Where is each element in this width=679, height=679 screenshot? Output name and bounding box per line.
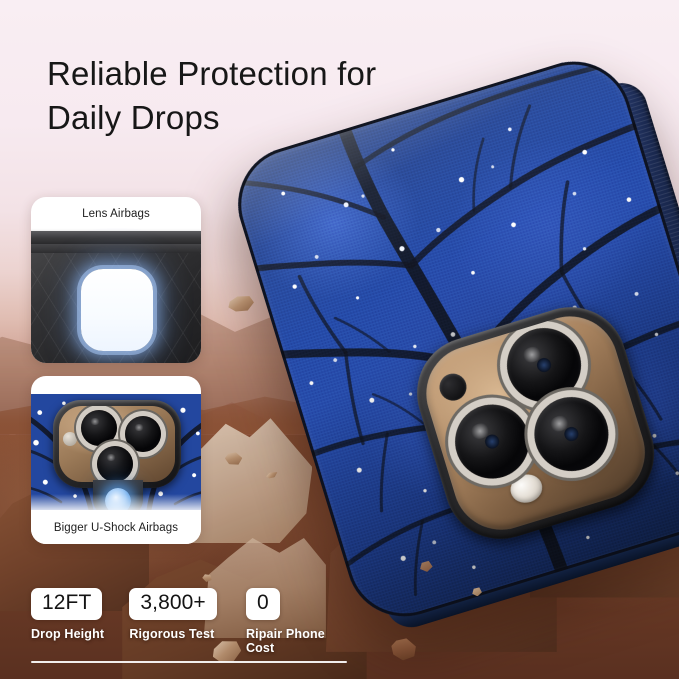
stat-label: Rigorous Test (129, 627, 214, 641)
page-title: Reliable Protection for Daily Drops (47, 52, 477, 140)
stats-underline (31, 661, 347, 663)
camera-module-inset (53, 400, 181, 488)
feature-card-lens-airbags: Lens Airbags (31, 197, 201, 363)
case-raised-lip-inner (31, 244, 201, 253)
feature-card-caption: Bigger U-Shock Airbags (31, 522, 201, 534)
stat-value: 0 (246, 588, 280, 620)
camera-lens-inset (125, 416, 161, 452)
lens-airbag-glow (81, 269, 153, 351)
stat-rigorous-test: 3,800+ Rigorous Test (129, 588, 246, 641)
stats-bar: 12FT Drop Height 3,800+ Rigorous Test 0 … (31, 588, 347, 663)
stats-row: 12FT Drop Height 3,800+ Rigorous Test 0 … (31, 588, 347, 655)
feature-card-caption: Lens Airbags (31, 208, 201, 220)
stat-drop-height: 12FT Drop Height (31, 588, 129, 641)
feature-card-u-shock-airbags: Bigger U-Shock Airbags (31, 376, 201, 544)
camera-lens-inset (81, 410, 117, 446)
stat-label: Ripair Phone Cost (246, 627, 347, 655)
product-feature-image: Reliable Protection for Daily Drops Lens… (0, 0, 679, 679)
card-bottom-fade (31, 494, 201, 516)
lidar-sensor-icon (507, 471, 546, 507)
stat-value: 12FT (31, 588, 102, 620)
stat-label: Drop Height (31, 627, 104, 641)
flash-icon-inset (63, 432, 77, 446)
stat-value: 3,800+ (129, 588, 216, 620)
camera-lens-inset (97, 446, 133, 482)
flash-icon (436, 370, 470, 404)
camera-plate-inset (59, 406, 175, 482)
stat-repair-phone-cost: 0 Ripair Phone Cost (246, 588, 347, 655)
